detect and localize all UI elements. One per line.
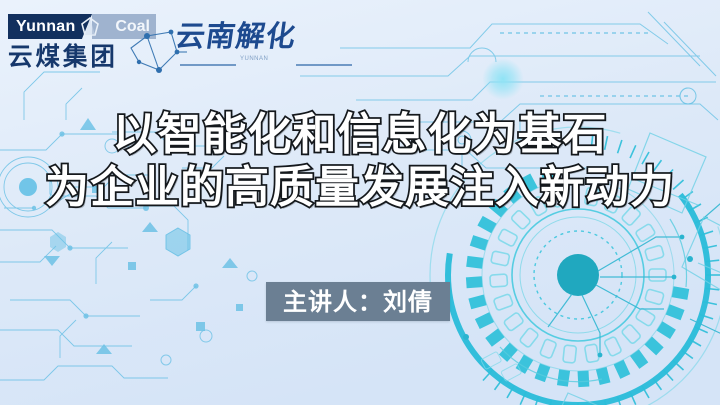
brand-lockup[interactable]: 云南解化 YUNNAN bbox=[176, 18, 366, 67]
header: Yunnan Coal 云煤集团 bbox=[0, 0, 720, 95]
slide-canvas: Yunnan Coal 云煤集团 bbox=[0, 0, 720, 405]
speaker-banner: 主讲人：刘倩 bbox=[266, 282, 450, 321]
diamond-icon bbox=[80, 17, 100, 36]
title-line-1: 以智能化和信息化为基石 bbox=[0, 108, 720, 161]
title-line-2: 为企业的高质量发展注入新动力 bbox=[0, 161, 720, 214]
brand-name-cn: 云南解化 bbox=[173, 18, 368, 54]
brand-underline: YUNNAN bbox=[180, 58, 352, 67]
brand-subtitle: YUNNAN bbox=[240, 56, 268, 62]
speaker-label: 主讲人：刘倩 bbox=[283, 289, 433, 315]
page-title: 以智能化和信息化为基石 为企业的高质量发展注入新动力 bbox=[0, 108, 720, 214]
